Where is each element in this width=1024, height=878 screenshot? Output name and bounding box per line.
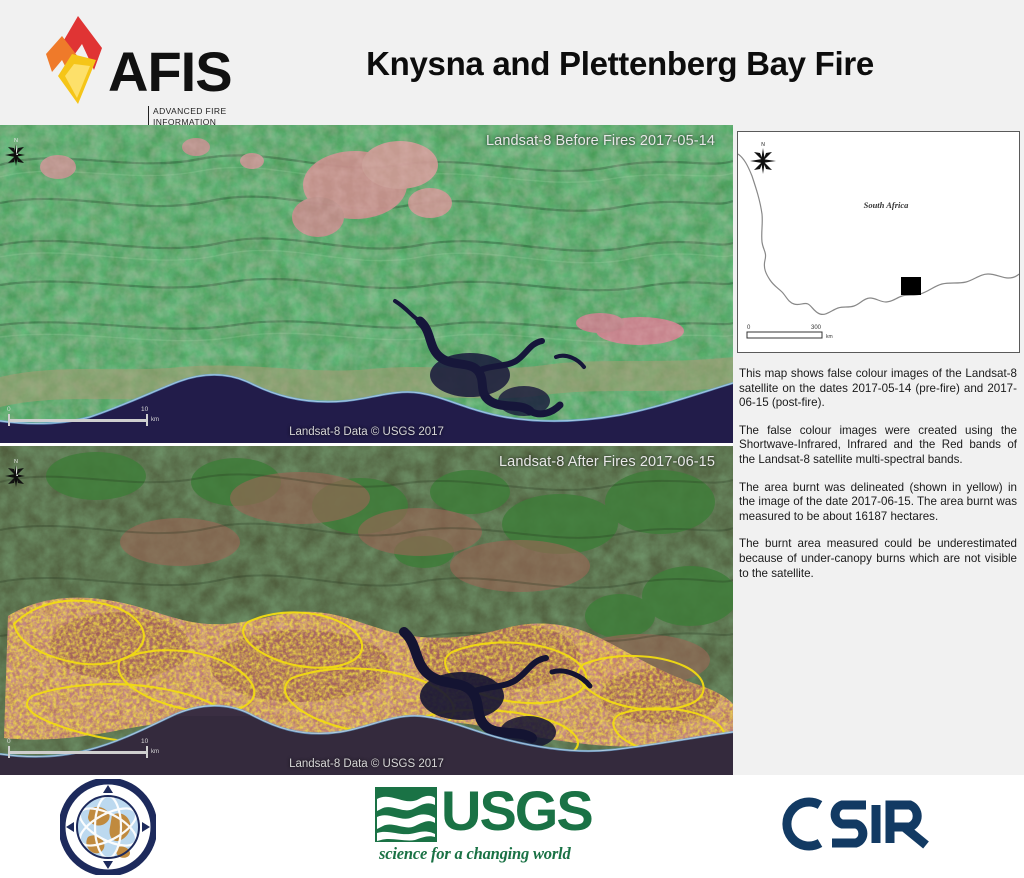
- description-paragraph-3: The area burnt was delineated (shown in …: [739, 481, 1017, 525]
- scalebar-min: 0: [7, 738, 11, 745]
- svg-text:N: N: [14, 138, 18, 144]
- description-paragraph-1: This map shows false colour images of th…: [739, 367, 1017, 411]
- description-paragraph-4: The burnt area measured could be underes…: [739, 537, 1017, 581]
- scalebar-after: 0 10 km: [8, 745, 158, 759]
- north-arrow-icon: N: [2, 456, 30, 490]
- after-image-label: Landsat-8 After Fires 2017-06-15: [499, 454, 715, 470]
- svg-text:km: km: [826, 334, 833, 340]
- afis-subtitle-line1: ADVANCED FIRE: [153, 106, 245, 117]
- north-arrow-icon: N: [2, 135, 30, 169]
- before-fire-raster: [0, 125, 733, 443]
- after-fire-raster: [0, 446, 733, 775]
- after-image-credit: Landsat-8 Data © USGS 2017: [0, 758, 733, 770]
- international-charter-globe-logo: [60, 779, 156, 875]
- satellite-image-before[interactable]: N 0 10 km Landsat-8 Before Fires 2017-05…: [0, 125, 733, 443]
- main-content: N 0 10 km Landsat-8 Before Fires 2017-05…: [0, 125, 1024, 775]
- study-area-marker: [901, 277, 921, 295]
- afis-logo: AFIS ADVANCED FIRE INFORMATION SYSTEM: [30, 14, 245, 124]
- scalebar-unit: km: [151, 417, 159, 423]
- scalebar-tick-end: [146, 414, 148, 426]
- locator-country-label: South Africa: [864, 200, 910, 210]
- description-paragraph-2: The false colour images were created usi…: [739, 424, 1017, 468]
- csir-logo: [780, 793, 930, 855]
- svg-text:N: N: [14, 459, 18, 465]
- scalebar-tick-start: [8, 414, 10, 426]
- page-title: Knysna and Plettenberg Bay Fire: [300, 45, 940, 83]
- scalebar-line: [8, 419, 148, 422]
- scalebar-before: 0 10 km: [8, 413, 158, 427]
- svg-text:N: N: [761, 142, 765, 148]
- scalebar-tick-end: [146, 746, 148, 758]
- svg-text:300: 300: [811, 325, 822, 331]
- flame-icon: [38, 14, 116, 106]
- page-footer: USGS science for a changing world: [0, 775, 1024, 878]
- info-panel: N South Africa 0 300: [733, 125, 1024, 775]
- usgs-wave-icon: [375, 787, 437, 842]
- scalebar-max: 10: [141, 406, 148, 413]
- page-header: AFIS ADVANCED FIRE INFORMATION SYSTEM Kn…: [0, 0, 1024, 125]
- afis-wordmark: AFIS: [108, 44, 232, 100]
- satellite-image-after[interactable]: N 0 10 km Landsat-8 After Fires 2017-06-…: [0, 446, 733, 775]
- scalebar-min: 0: [7, 406, 11, 413]
- usgs-logo: USGS science for a changing world: [375, 787, 575, 865]
- usgs-tagline: science for a changing world: [379, 844, 571, 864]
- before-image-credit: Landsat-8 Data © USGS 2017: [0, 426, 733, 438]
- locator-map-svg: N South Africa 0 300: [738, 132, 1019, 352]
- before-image-label: Landsat-8 Before Fires 2017-05-14: [486, 133, 715, 149]
- scalebar-line: [8, 751, 148, 754]
- scalebar-max: 10: [141, 738, 148, 745]
- description-text: This map shows false colour images of th…: [739, 367, 1017, 594]
- locator-map[interactable]: N South Africa 0 300: [737, 131, 1020, 353]
- scalebar-tick-start: [8, 746, 10, 758]
- usgs-wordmark: USGS: [441, 783, 592, 839]
- scalebar-unit: km: [151, 749, 159, 755]
